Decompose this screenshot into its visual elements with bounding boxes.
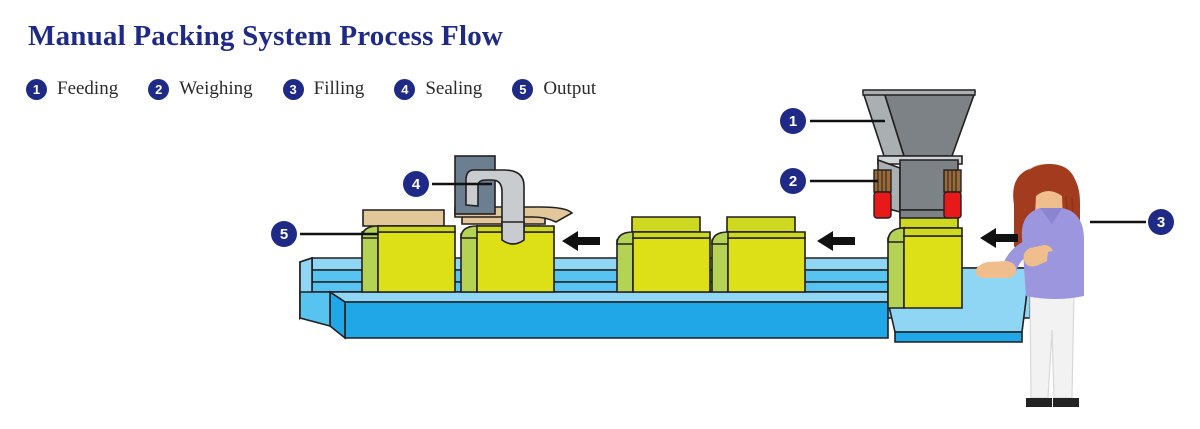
carton-transit-a-top-flap xyxy=(632,217,700,232)
carton-transit-a-top xyxy=(633,232,710,238)
packing-system-illustration: 1 2 3 4 5 xyxy=(0,0,1200,429)
operator-hand-front xyxy=(976,261,1016,278)
carton-output-lid xyxy=(363,210,444,226)
load-cell-left xyxy=(874,170,891,218)
carton-filling xyxy=(888,212,962,308)
conveyor-front-body xyxy=(345,302,888,338)
process-flow-page: Manual Packing System Process Flow 1 Fee… xyxy=(0,0,1200,429)
hopper-funnel-rim xyxy=(863,90,975,95)
carton-output xyxy=(362,210,455,292)
carton-output-top xyxy=(378,226,455,232)
callout-2-number: 2 xyxy=(789,173,797,190)
carton-output-front xyxy=(378,232,455,292)
flow-arrow-1-icon xyxy=(562,231,600,251)
carton-transit-b-front xyxy=(728,238,805,292)
carton-filling-front xyxy=(904,236,962,308)
load-cell-right xyxy=(944,170,961,218)
carton-transit-b-top-flap xyxy=(727,217,795,232)
load-cell-right-body xyxy=(944,192,961,218)
hopper-machine xyxy=(863,90,975,218)
conveyor-right-platform-front xyxy=(895,332,1022,342)
carton-transit-a xyxy=(617,217,710,292)
operator-shoe-left xyxy=(1026,398,1052,407)
callout-3-number: 3 xyxy=(1157,214,1165,231)
operator-shoe-right xyxy=(1053,398,1079,407)
flow-arrow-2-icon xyxy=(817,231,855,251)
flow-arrow-3-icon xyxy=(980,228,1018,248)
callout-2[interactable]: 2 xyxy=(780,168,878,194)
callout-4-number: 4 xyxy=(412,176,421,193)
callout-5-number: 5 xyxy=(280,226,288,243)
conveyor-front-body-top xyxy=(330,292,888,302)
conveyor-output-chute-inner xyxy=(300,292,330,326)
carton-transit-b xyxy=(712,217,805,292)
callout-1-number: 1 xyxy=(789,113,797,130)
load-cell-left-body xyxy=(874,192,891,218)
operator-pants xyxy=(1030,292,1074,398)
carton-transit-b-top xyxy=(728,232,805,238)
callout-3[interactable]: 3 xyxy=(1090,209,1174,235)
sealing-arm-lower-jaw xyxy=(502,222,524,244)
carton-filling-top xyxy=(904,228,962,236)
carton-transit-a-front xyxy=(633,238,710,292)
